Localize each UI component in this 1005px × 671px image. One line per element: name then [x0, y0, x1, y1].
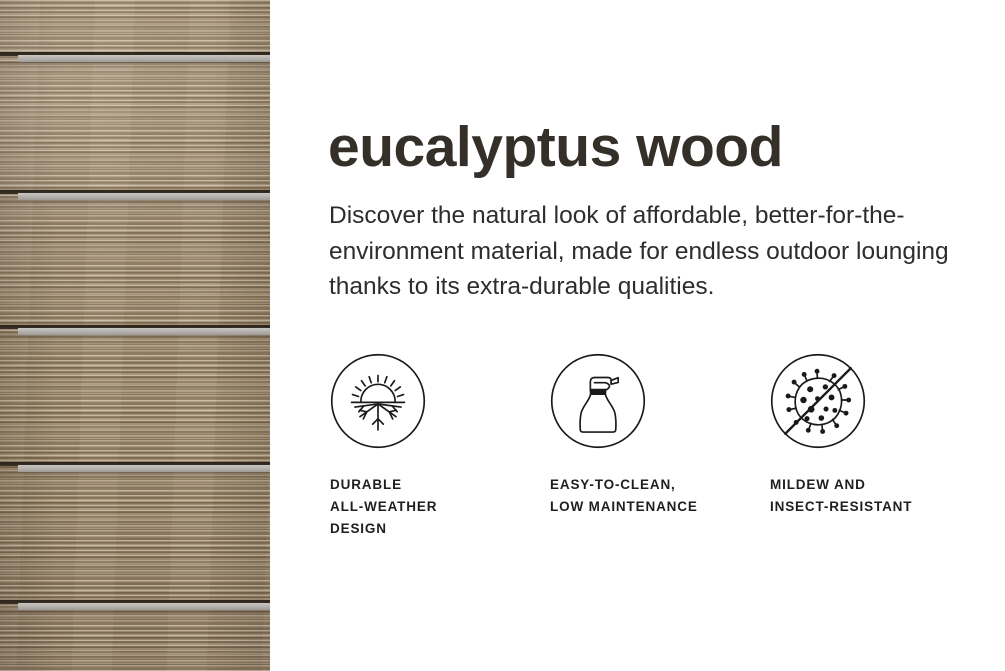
slat-gap-highlight	[18, 193, 270, 200]
description-text: Discover the natural look of affordable,…	[329, 198, 954, 305]
slat-gap	[0, 52, 270, 63]
slat-gap-falloff	[0, 335, 270, 340]
wood-panel-image	[0, 0, 270, 671]
slat-gap-falloff	[0, 200, 270, 205]
slat-gap-highlight	[18, 328, 270, 335]
slat-gap	[0, 190, 270, 201]
feature-list: DURABLE ALL-WEATHER DESIGN	[329, 352, 989, 540]
slat-gap	[0, 325, 270, 336]
slat-gap-falloff	[0, 62, 270, 67]
slat-gap	[0, 600, 270, 611]
feature-caption: MILDEW AND INSECT-RESISTANT	[770, 474, 969, 518]
feature-item-easy-to-clean: EASY-TO-CLEAN, LOW MAINTENANCE	[549, 352, 769, 540]
spray-bottle-icon	[549, 352, 647, 450]
slat-gap-falloff	[0, 472, 270, 477]
slat-gap	[0, 462, 270, 473]
slat-gap-falloff	[0, 610, 270, 615]
sun-snowflake-all-weather-icon	[329, 352, 427, 450]
feature-item-durable-all-weather: DURABLE ALL-WEATHER DESIGN	[329, 352, 549, 540]
slat-gap-highlight	[18, 55, 270, 62]
slat-gap-highlight	[18, 465, 270, 472]
feature-caption: DURABLE ALL-WEATHER DESIGN	[330, 474, 549, 540]
page-title: eucalyptus wood	[328, 118, 783, 178]
slat-gap-highlight	[18, 603, 270, 610]
feature-caption: EASY-TO-CLEAN, LOW MAINTENANCE	[550, 474, 769, 518]
feature-item-mildew-insect-resistant: MILDEW AND INSECT-RESISTANT	[769, 352, 969, 540]
eucalyptus-wood-promo-banner: eucalyptus wood Discover the natural loo…	[0, 0, 1005, 671]
content-area: eucalyptus wood Discover the natural loo…	[270, 0, 1005, 671]
no-mildew-insect-icon	[769, 352, 867, 450]
